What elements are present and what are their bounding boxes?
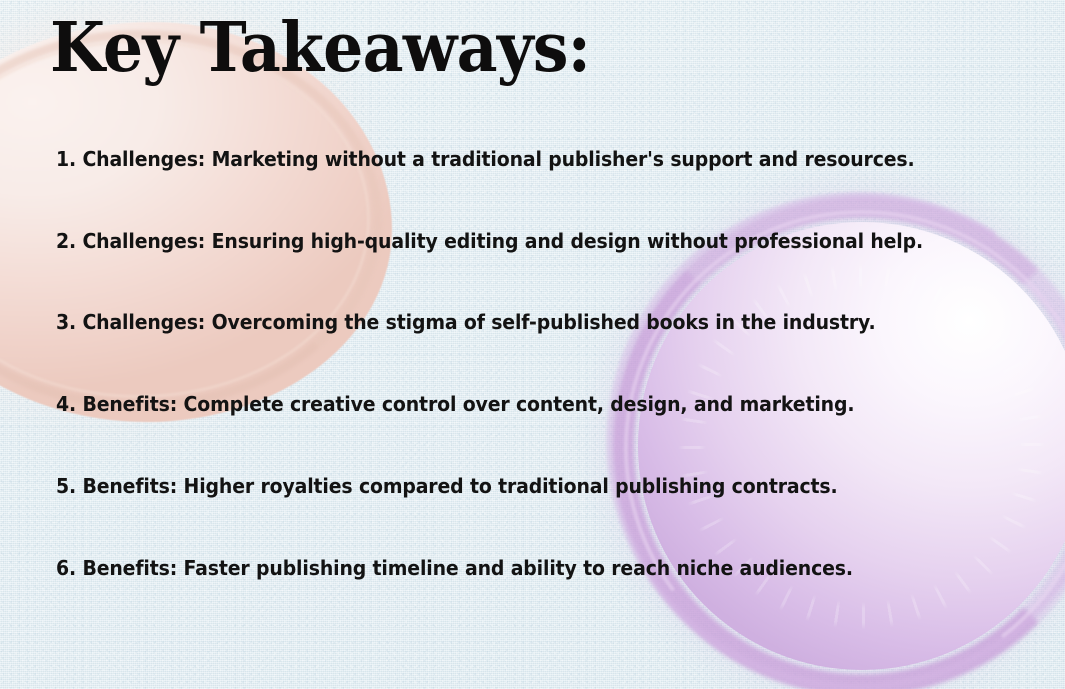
list-item: 1. Challenges: Marketing without a tradi… [56,148,962,170]
list-item: 4. Benefits: Complete creative control o… [56,393,962,415]
list-item: 2. Challenges: Ensuring high-quality edi… [56,230,962,252]
slide-content: Key Takeaways: 1. Challenges: Marketing … [0,0,1065,689]
list-item: 6. Benefits: Faster publishing timeline … [56,557,962,579]
slide-canvas: Key Takeaways: 1. Challenges: Marketing … [0,0,1065,689]
list-item: 5. Benefits: Higher royalties compared t… [56,475,962,497]
list-item: 3. Challenges: Overcoming the stigma of … [56,311,962,333]
takeaways-list: 1. Challenges: Marketing without a tradi… [56,148,1025,579]
page-title: Key Takeaways: [50,14,590,83]
